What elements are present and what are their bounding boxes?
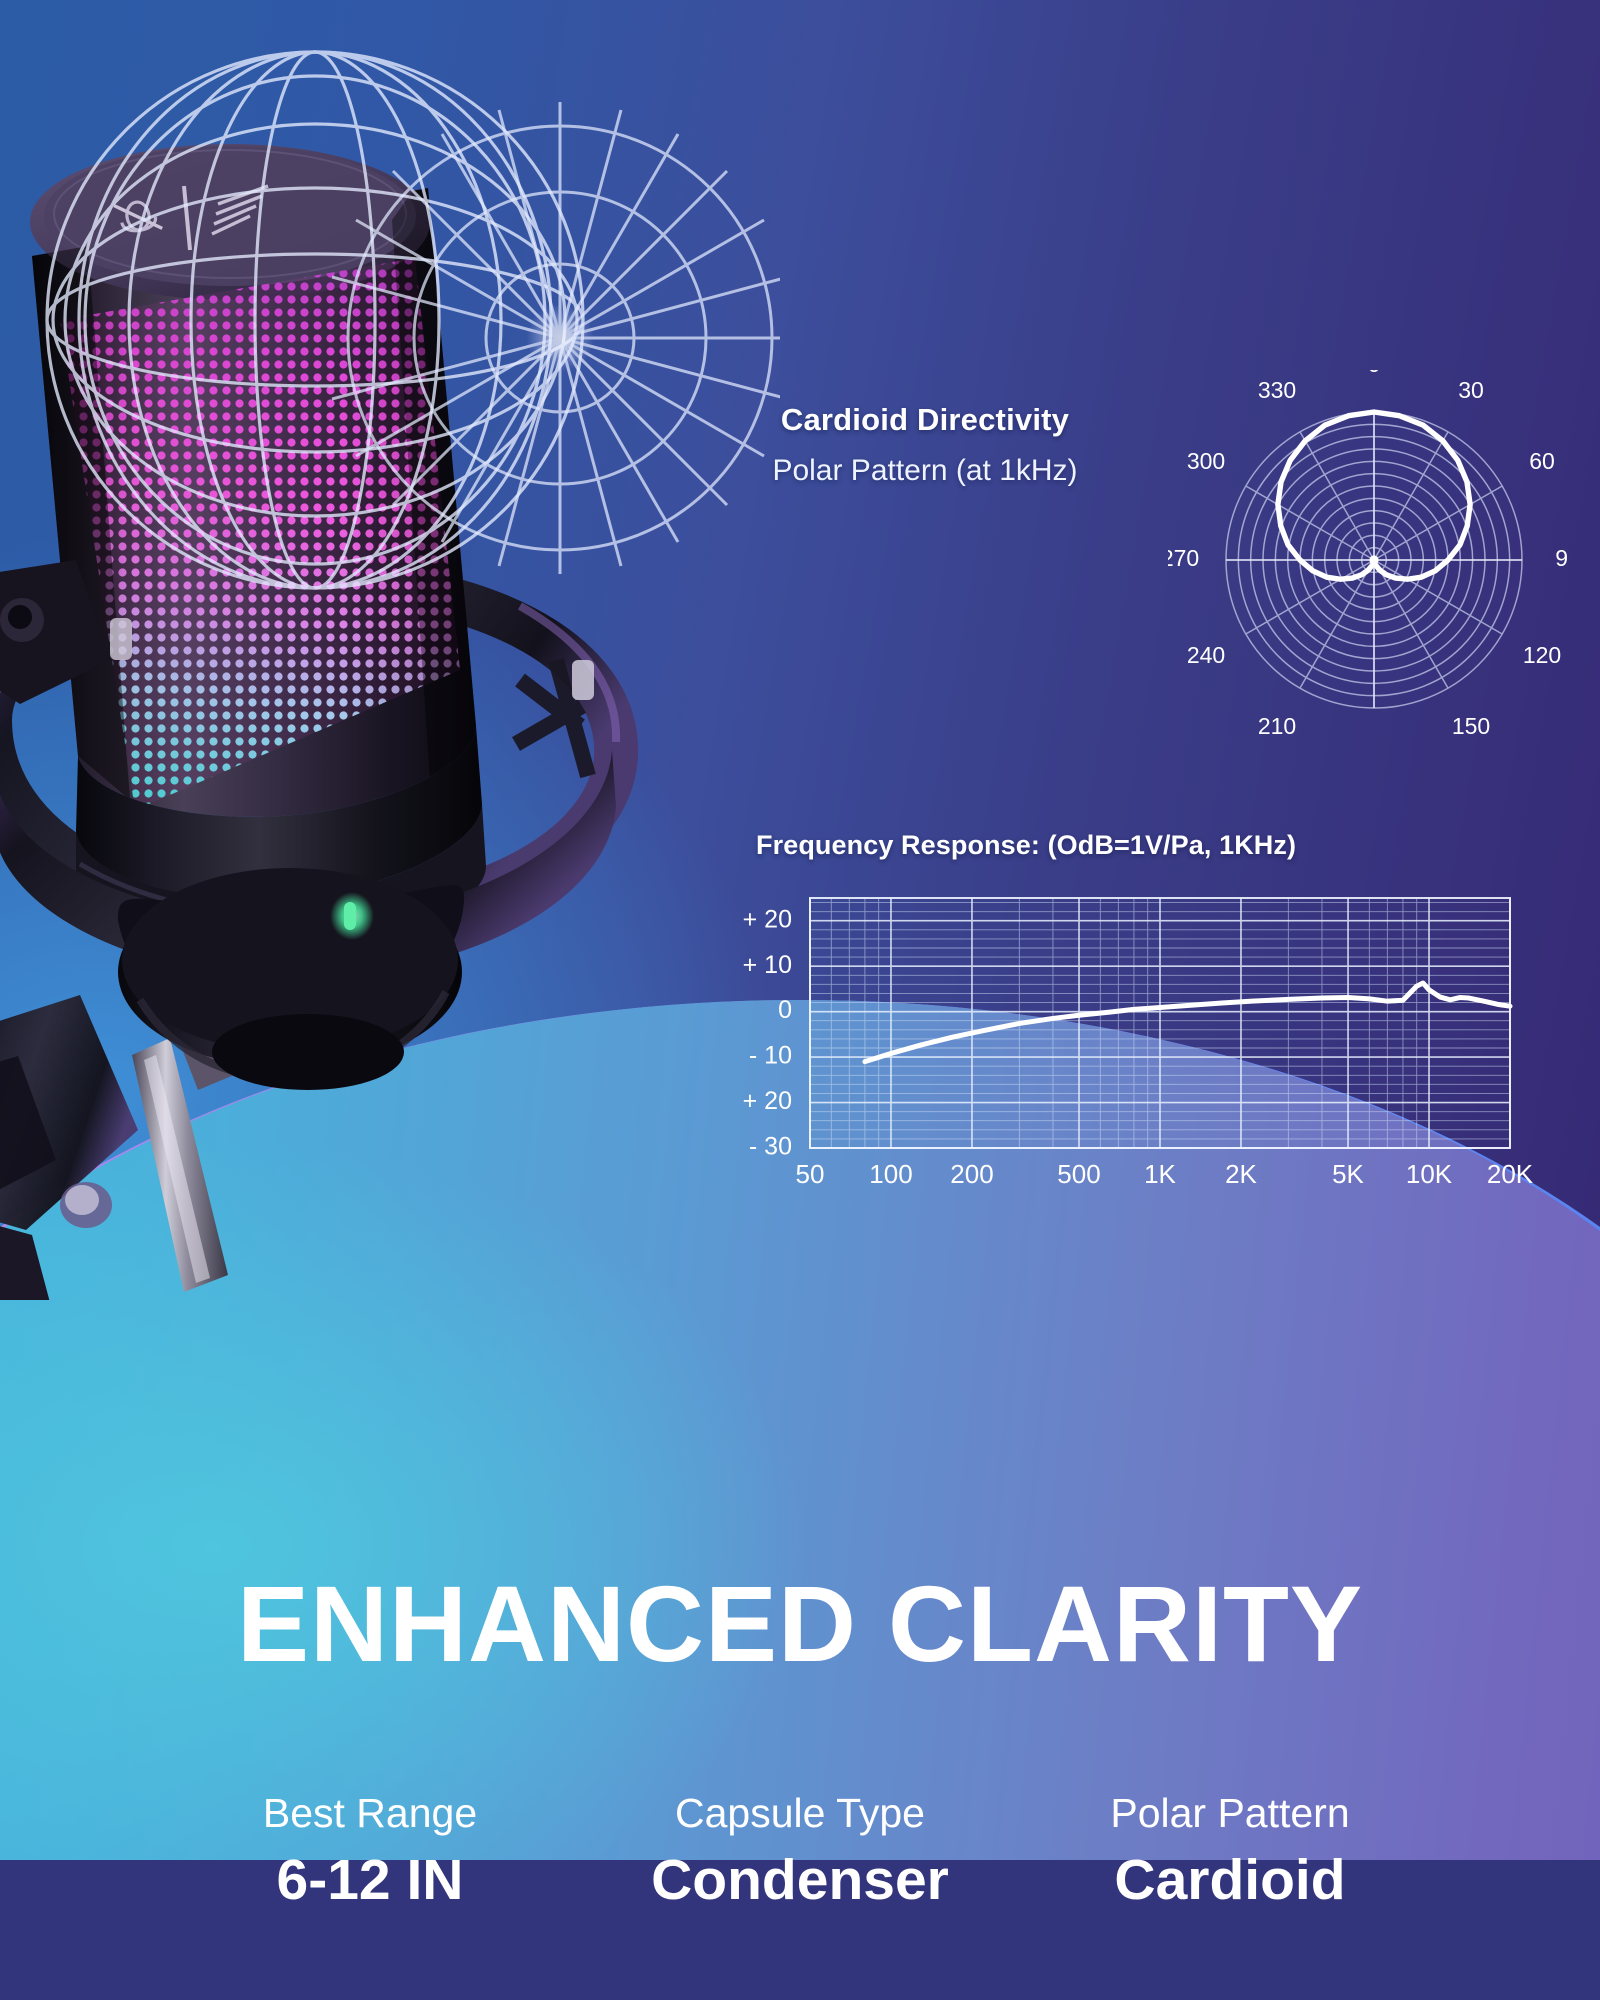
frequency-response-chart: + 20+ 100- 10+ 20- 30 501002005001K2K5K1… (690, 890, 1570, 1220)
polar-pattern-chart: 0306090120150180210240270300330 (1168, 370, 1568, 740)
freq-x-label-1K: 1K (1144, 1159, 1176, 1189)
freq-x-label-10K: 10K (1406, 1159, 1453, 1189)
polar-angle-label-0: 0 (1368, 370, 1381, 377)
polar-angle-label-120: 120 (1523, 642, 1561, 668)
freq-y-label-2: 0 (778, 996, 792, 1024)
polar-angle-label-150: 150 (1452, 713, 1490, 739)
freq-x-label-50: 50 (796, 1159, 825, 1189)
polar-angle-label-60: 60 (1529, 448, 1555, 474)
spec-value: 6-12 IN (155, 1849, 585, 1912)
polar-pattern-subtitle: Polar Pattern (at 1kHz) (690, 454, 1160, 488)
freq-y-label-4: + 20 (743, 1087, 792, 1115)
freq-y-label-5: - 30 (749, 1133, 792, 1161)
frequency-response-panel: Frequency Response: (OdB=1V/Pa, 1KHz) + … (690, 830, 1570, 1230)
spec-value: Condenser (585, 1849, 1015, 1912)
polar-origin-dot (1369, 555, 1378, 564)
spec-item-best-range: Best Range 6-12 IN (155, 1790, 585, 1912)
spec-label: Capsule Type (585, 1790, 1015, 1837)
polar-pattern-panel: Cardioid Directivity Polar Pattern (at 1… (690, 380, 1570, 750)
headline: ENHANCED CLARITY (0, 1570, 1600, 1678)
freq-x-label-20K: 20K (1487, 1159, 1534, 1189)
spec-item-polar-pattern: Polar Pattern Cardioid (1015, 1790, 1445, 1912)
freq-x-label-100: 100 (869, 1159, 912, 1189)
polar-caption-block: Cardioid Directivity Polar Pattern (at 1… (690, 402, 1160, 488)
freq-x-label-200: 200 (950, 1159, 993, 1189)
freq-y-label-0: + 20 (743, 905, 792, 933)
microphone-product-image (0, 20, 780, 1300)
polar-angle-label-270: 270 (1168, 545, 1199, 571)
frequency-response-title: Frequency Response: (OdB=1V/Pa, 1KHz) (756, 830, 1296, 861)
spec-item-capsule-type: Capsule Type Condenser (585, 1790, 1015, 1912)
polar-angle-label-330: 330 (1258, 377, 1296, 403)
polar-angle-label-240: 240 (1187, 642, 1225, 668)
freq-y-label-1: + 10 (743, 951, 792, 979)
polar-angle-label-300: 300 (1187, 448, 1225, 474)
spec-row: Best Range 6-12 IN Capsule Type Condense… (0, 1790, 1600, 1912)
freq-y-label-3: - 10 (749, 1042, 792, 1070)
spec-label: Polar Pattern (1015, 1790, 1445, 1837)
polar-angle-label-180: 180 (1355, 739, 1393, 740)
polar-angle-label-30: 30 (1458, 377, 1484, 403)
polar-angle-label-210: 210 (1258, 713, 1296, 739)
freq-x-label-500: 500 (1057, 1159, 1100, 1189)
product-infographic: Cardioid Directivity Polar Pattern (at 1… (0, 0, 1600, 2000)
polar-pattern-title: Cardioid Directivity (690, 402, 1160, 438)
frequency-response-curve (865, 983, 1510, 1062)
spec-label: Best Range (155, 1790, 585, 1837)
freq-x-label-2K: 2K (1225, 1159, 1257, 1189)
polar-angle-label-90: 90 (1555, 545, 1568, 571)
status-led-green (330, 892, 374, 940)
freq-x-label-5K: 5K (1332, 1159, 1364, 1189)
spec-value: Cardioid (1015, 1849, 1445, 1912)
